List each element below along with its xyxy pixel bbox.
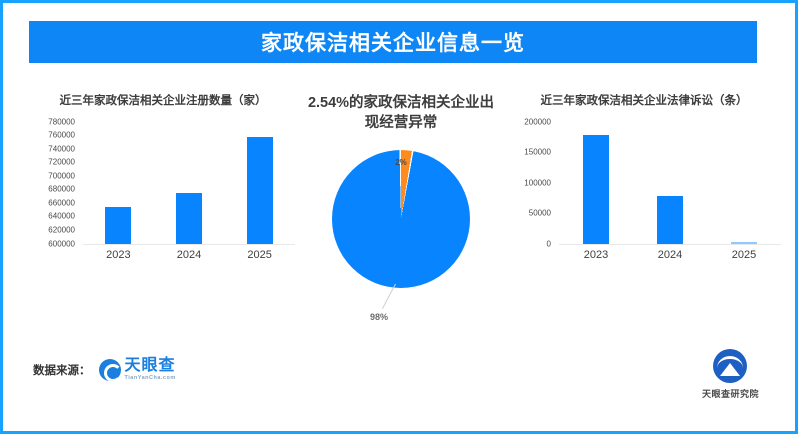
x-tick-label: 2023	[106, 249, 130, 261]
bar-group: 2023	[559, 122, 633, 244]
data-source-label: 数据来源：	[33, 362, 91, 378]
pie-chart-area: 2% 98%	[303, 144, 499, 324]
pie-slice-label-normal: 98%	[370, 312, 388, 322]
y-tick-label: 100000	[524, 178, 551, 187]
y-axis-lawsuits: 0 50000 100000 150000 200000	[503, 122, 555, 244]
y-tick-label: 680000	[48, 185, 75, 194]
tianyancha-brand-en: TianYanCha.com	[125, 376, 176, 382]
x-tick-label: 2025	[247, 249, 271, 261]
bar-registrations-2024	[176, 193, 202, 244]
y-tick-label: 760000	[48, 131, 75, 140]
y-tick-label: 780000	[48, 117, 75, 126]
y-tick-label: 0	[547, 239, 551, 248]
chart-lawsuits: 近三年家政保洁相关企业法律诉讼（条） 0 50000 100000 150000…	[503, 93, 785, 313]
bar-group: 2024	[633, 122, 707, 244]
tianyancha-mark-icon	[99, 359, 121, 381]
chart-title-abnormal-operations: 2.54%的家政保洁相关企业出现经营异常	[303, 93, 499, 134]
data-source-footer: 数据来源： 天眼查 TianYanCha.com	[33, 358, 176, 382]
plot-area-lawsuits: 2023 2024 2025	[559, 122, 781, 245]
x-tick-label: 2023	[584, 249, 608, 261]
tianyancha-brand-cn: 天眼查	[125, 358, 176, 374]
pie-slice-label-abnormal: 2%	[395, 158, 407, 167]
y-tick-label: 200000	[524, 117, 551, 126]
institute-label: 天眼查研究院	[702, 387, 759, 400]
title-banner: 家政保洁相关企业信息一览	[29, 21, 757, 63]
y-tick-label: 640000	[48, 212, 75, 221]
bar-lawsuits-2024	[657, 196, 683, 244]
bar-group: 2025	[224, 122, 295, 244]
chart-registrations: 近三年家政保洁相关企业注册数量（家） 600000 620000 640000 …	[27, 93, 299, 313]
chart-title-lawsuits: 近三年家政保洁相关企业法律诉讼（条）	[503, 93, 785, 110]
tianyancha-logo: 天眼查 TianYanCha.com	[99, 358, 176, 382]
bar-registrations-2025	[247, 137, 273, 243]
x-tick-label: 2025	[732, 249, 756, 261]
pie-chart	[332, 150, 470, 288]
page-title: 家政保洁相关企业信息一览	[261, 27, 525, 57]
x-tick-label: 2024	[658, 249, 682, 261]
y-tick-label: 700000	[48, 171, 75, 180]
x-tick-label: 2024	[177, 249, 201, 261]
y-tick-label: 150000	[524, 148, 551, 157]
bar-group: 2025	[707, 122, 781, 244]
y-tick-label: 720000	[48, 158, 75, 167]
y-tick-label: 660000	[48, 198, 75, 207]
bar-group: 2023	[83, 122, 154, 244]
pie-leader-line	[382, 283, 396, 308]
bar-registrations-2023	[105, 207, 131, 244]
plot-area-registrations: 2023 2024 2025	[83, 122, 295, 245]
bar-lawsuits-2025	[731, 242, 757, 244]
y-axis-registrations: 600000 620000 640000 660000 680000 70000…	[27, 122, 79, 244]
bar-lawsuits-2023	[583, 135, 609, 244]
chart-title-registrations: 近三年家政保洁相关企业注册数量（家）	[27, 93, 299, 110]
y-tick-label: 620000	[48, 226, 75, 235]
chart-abnormal-operations: 2.54%的家政保洁相关企业出现经营异常 2% 98%	[303, 93, 499, 313]
y-tick-label: 600000	[48, 239, 75, 248]
infographic-card: 家政保洁相关企业信息一览 近三年家政保洁相关企业注册数量（家） 600000 6…	[0, 0, 798, 434]
y-tick-label: 50000	[529, 209, 551, 218]
bar-chart-registrations-plot: 600000 620000 640000 660000 680000 70000…	[27, 122, 299, 272]
institute-mark-icon	[713, 349, 747, 383]
y-tick-label: 740000	[48, 144, 75, 153]
bar-chart-lawsuits-plot: 0 50000 100000 150000 200000 2023 2024 2…	[503, 122, 785, 272]
bar-group: 2024	[154, 122, 225, 244]
institute-logo: 天眼查研究院	[702, 349, 759, 400]
